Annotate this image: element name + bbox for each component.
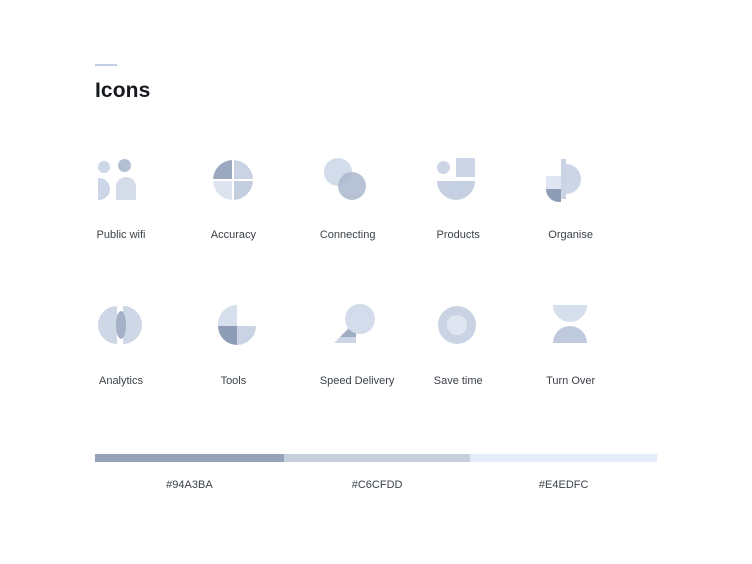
color-palette: #94A3BA #C6CFDD #E4EDFC — [95, 454, 657, 491]
icon-cell-accuracy[interactable]: Accuracy — [207, 155, 319, 241]
products-half-circle — [437, 181, 475, 200]
title-rule-divider — [95, 64, 117, 66]
pie-quadrant-bottom-left — [213, 180, 233, 200]
icon-cell-tools[interactable]: Tools — [207, 301, 319, 387]
overlapping-circles-icon — [322, 155, 374, 207]
icon-cell-analytics[interactable]: Analytics — [95, 301, 207, 387]
icons-showcase-page: Icons Public wifi — [0, 0, 752, 564]
icon-label: Public wifi — [97, 229, 146, 241]
speed-circle — [345, 304, 375, 334]
icon-label: Speed Delivery — [320, 375, 395, 387]
icon-cell-organise[interactable]: Organise — [545, 155, 657, 241]
icon-label: Turn Over — [546, 375, 595, 387]
tools-quarter-bottom-left — [218, 326, 237, 345]
hourglass-top-dome — [553, 305, 587, 322]
swatch-segment-2 — [284, 454, 471, 462]
shapes-stack-icon — [432, 155, 484, 207]
pie-quadrant-top-left — [213, 160, 233, 180]
icon-cell-connecting[interactable]: Connecting — [320, 155, 432, 241]
organise-square — [546, 176, 561, 189]
organise-half-circle — [566, 164, 581, 194]
icon-label: Tools — [221, 375, 247, 387]
organise-blocks-icon — [545, 155, 597, 207]
analytics-left-half — [98, 306, 117, 344]
icon-label: Products — [437, 229, 480, 241]
icon-cell-public-wifi[interactable]: Public wifi — [95, 155, 207, 241]
icon-label: Organise — [548, 229, 593, 241]
icon-cell-products[interactable]: Products — [432, 155, 544, 241]
page-title: Icons — [95, 80, 150, 101]
circle-arrow-icon — [331, 301, 383, 353]
people-icon-body-small — [98, 178, 110, 200]
circle-lower-right — [338, 172, 366, 200]
icon-label: Analytics — [99, 375, 143, 387]
quarter-circles-icon — [207, 301, 259, 353]
icon-row: Analytics Tools — [95, 301, 657, 387]
icon-cell-save-time[interactable]: Save time — [432, 301, 544, 387]
pie-quadrant-bottom-right — [233, 180, 253, 200]
organise-quarter-circle — [546, 189, 561, 202]
people-icon — [95, 155, 147, 207]
icon-cell-speed-delivery[interactable]: Speed Delivery — [320, 301, 432, 387]
icon-label: Save time — [434, 375, 483, 387]
tools-quarter-bottom-right — [237, 326, 256, 345]
swatch-segment-3 — [470, 454, 657, 462]
tools-quarter-top — [218, 305, 237, 326]
icon-cell-turn-over[interactable]: Turn Over — [545, 301, 657, 387]
swatch-label-row: #94A3BA #C6CFDD #E4EDFC — [95, 479, 657, 491]
swatch-segment-1 — [95, 454, 284, 462]
products-circle — [437, 161, 450, 174]
pie-quadrant-top-right — [233, 160, 253, 180]
people-icon-body-large — [116, 177, 136, 200]
hourglass-icon — [545, 301, 597, 353]
swatch-hex-label: #94A3BA — [95, 479, 284, 491]
lens-bowtie-icon — [95, 301, 147, 353]
page-header: Icons — [95, 64, 150, 101]
analytics-center-lens — [116, 311, 126, 339]
hourglass-bottom-dome — [553, 326, 587, 343]
organise-vertical-bar — [561, 159, 566, 199]
icon-label: Accuracy — [211, 229, 256, 241]
swatch-hex-label: #E4EDFC — [470, 479, 657, 491]
pie-chart-icon — [207, 155, 259, 207]
people-icon-head-large — [118, 159, 131, 172]
pie-chart-icon-body — [213, 160, 253, 200]
pie-gap-horizontal — [213, 179, 253, 181]
icon-grid: Public wifi Accurac — [95, 155, 657, 387]
ring-icon — [432, 301, 484, 353]
swatch-bar — [95, 454, 657, 462]
swatch-hex-label: #C6CFDD — [284, 479, 471, 491]
icon-label: Connecting — [320, 229, 376, 241]
icon-row: Public wifi Accurac — [95, 155, 657, 241]
people-icon-head-small — [98, 161, 110, 173]
products-square — [456, 158, 475, 177]
